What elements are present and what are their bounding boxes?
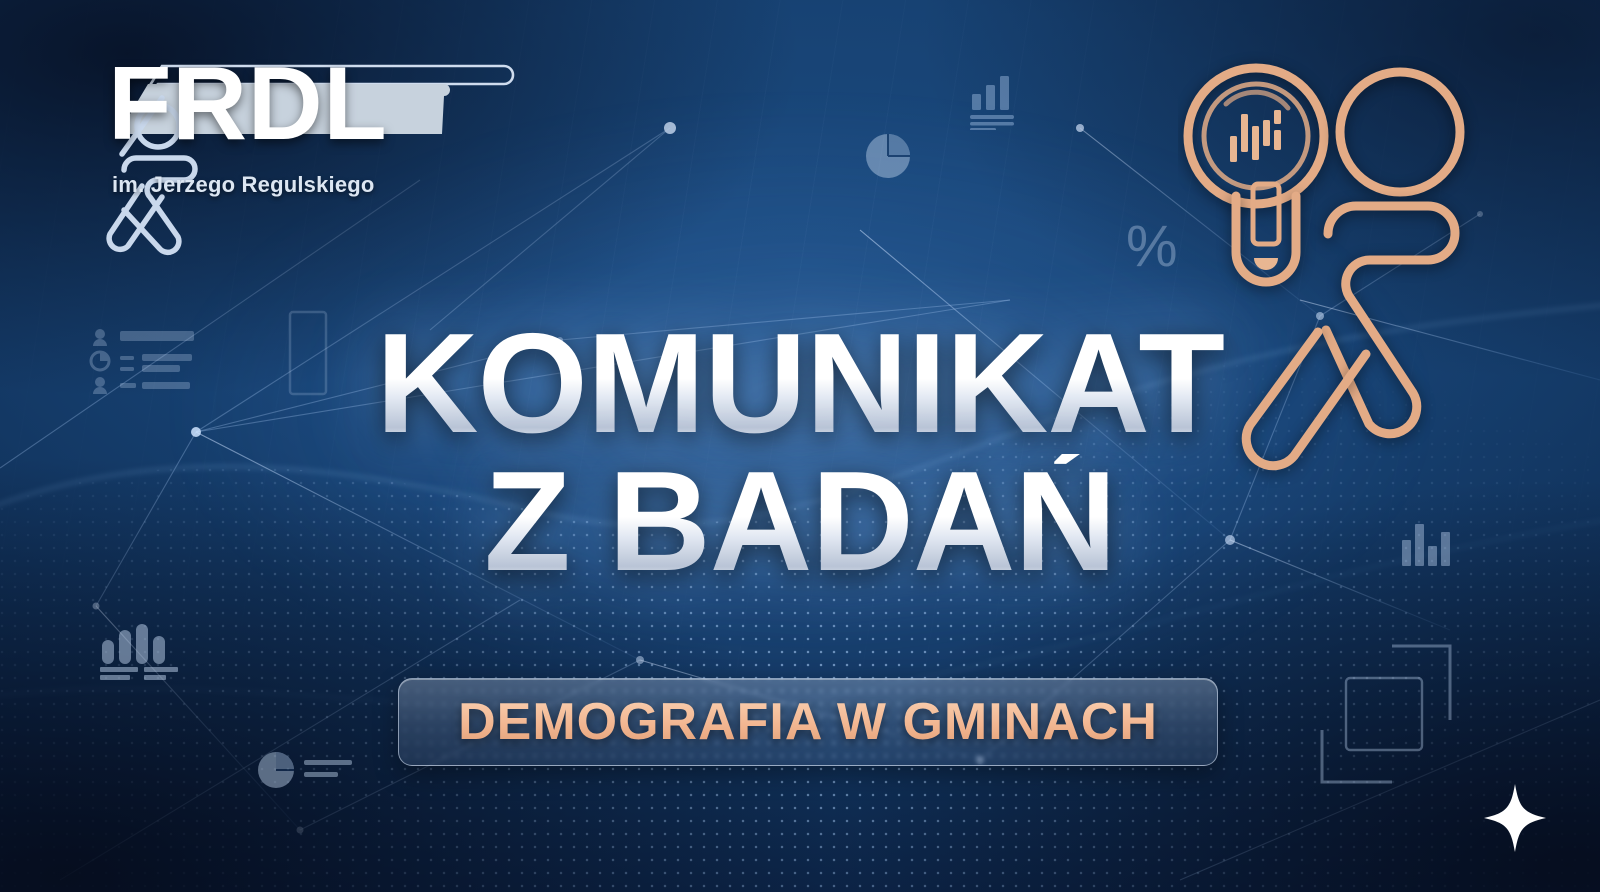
bar-chart-glyph [1230,110,1281,162]
square-frames-icon [1300,634,1472,794]
promo-banner-canvas: % [0,0,1600,892]
subtitle-banner: DEMOGRAFIA W GMINACH [398,678,1218,766]
subtitle-banner-label: DEMOGRAFIA W GMINACH [458,692,1158,752]
handle-tip [1254,258,1278,270]
sparkle-star-icon [1480,780,1550,861]
pie-chart-legend-icon [256,746,356,792]
magnifier-shine [1226,92,1288,108]
frdl-wordmark: FRDL [108,52,387,156]
percent-symbol: % [1124,212,1186,278]
handle-slot [1253,184,1279,244]
frdl-tagline: im. Jerzego Regulskiego [112,172,375,198]
person-head-circle [1340,72,1460,192]
pie-chart-icon [862,130,914,182]
bar-chart-ascending-icon [968,72,1022,130]
headline-line-2: Z BADAŃ [0,454,1600,590]
headline-line-1: KOMUNIKAT [0,316,1600,452]
people-bar-chart-icon [98,622,182,682]
headline-block: KOMUNIKAT Z BADAŃ [0,316,1600,591]
svg-text:%: % [1126,214,1178,278]
